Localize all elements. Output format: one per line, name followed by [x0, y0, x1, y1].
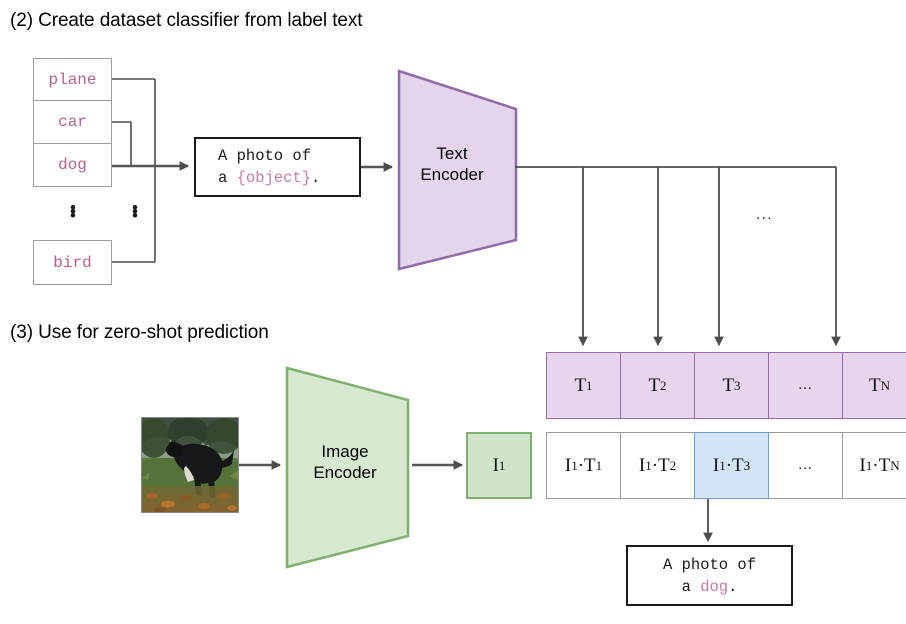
text-embedding-cell-ellipsis: ... — [768, 352, 843, 419]
cell-symbol: T — [722, 375, 734, 397]
connector-ellipsis: ••• — [125, 206, 145, 218]
prediction-line-1: A photo of — [663, 554, 756, 576]
similarity-row: I1·T1 I1·T2 I1·T3 ... I1·TN — [546, 432, 906, 499]
text-embedding-cell-2[interactable]: T2 — [620, 352, 695, 419]
similarity-cell-3-selected[interactable]: I1·T3 — [694, 432, 769, 499]
similarity-cell-ellipsis: ... — [768, 432, 843, 499]
image-encoder-shape[interactable] — [284, 364, 412, 572]
label-box-plane[interactable]: plane — [33, 58, 112, 101]
section-heading-step3: (3) Use for zero-shot prediction — [10, 322, 269, 344]
text-embedding-arrows — [583, 167, 836, 345]
similarity-cell-2[interactable]: I1·T2 — [620, 432, 695, 499]
sim-right: T — [879, 455, 891, 477]
cell-symbol: T — [574, 375, 586, 397]
label-box-dog[interactable]: dog — [33, 144, 112, 187]
label-text: dog — [58, 156, 87, 174]
sim-right: T — [584, 455, 596, 477]
similarity-cell-1[interactable]: I1·T1 — [546, 432, 621, 499]
sim-right: T — [732, 455, 744, 477]
cell-subscript: 2 — [660, 378, 667, 394]
sim-right: T — [658, 455, 670, 477]
text-embedding-cell-3[interactable]: T3 — [694, 352, 769, 419]
label-text: car — [58, 113, 87, 131]
cell-subscript: 3 — [734, 378, 741, 394]
cell-symbol: T — [869, 375, 881, 397]
prediction-line-2-prefix: a — [682, 578, 701, 596]
sim-right-sub: N — [890, 458, 899, 474]
label-text: bird — [53, 254, 91, 272]
prompt-template-box[interactable]: A photo of a {object}. — [194, 137, 361, 197]
prediction-line-2-suffix: . — [728, 578, 737, 596]
text-embedding-cell-1[interactable]: T1 — [546, 352, 621, 419]
cell-symbol: T — [648, 375, 660, 397]
label-box-bird[interactable]: bird — [33, 240, 112, 285]
prompt-line-2-prefix: a — [218, 169, 237, 187]
similarity-cell-n[interactable]: I1·TN — [842, 432, 906, 499]
prompt-line-2-suffix: . — [311, 169, 320, 187]
dog-photo — [142, 418, 238, 512]
sim-right-sub: 2 — [670, 458, 677, 474]
section-heading-step2: (2) Create dataset classifier from label… — [10, 10, 362, 32]
prompt-line-1: A photo of — [196, 145, 359, 167]
sim-right-sub: 3 — [744, 458, 751, 474]
cell-subscript: 1 — [586, 378, 593, 394]
prompt-line-2: a {object}. — [196, 167, 359, 189]
label-to-prompt-connectors — [112, 79, 155, 262]
text-embedding-cell-n[interactable]: TN — [842, 352, 906, 419]
prediction-line-2: a dog. — [682, 576, 738, 598]
prediction-dog-token: dog — [700, 578, 728, 596]
image-embedding-subscript: 1 — [499, 458, 506, 474]
text-embedding-bus-ellipsis: ... — [756, 206, 773, 223]
prompt-object-token: {object} — [237, 169, 311, 187]
prediction-output-box[interactable]: A photo of a dog. — [626, 545, 793, 606]
label-text: plane — [48, 71, 96, 89]
text-encoder-shape[interactable] — [396, 66, 520, 274]
label-box-car[interactable]: car — [33, 101, 112, 144]
image-embedding-box[interactable]: I1 — [466, 432, 532, 499]
input-image-thumbnail[interactable] — [141, 417, 239, 513]
cell-ellipsis: ... — [798, 377, 812, 394]
cell-subscript: N — [881, 378, 890, 394]
sim-right-sub: 1 — [596, 458, 603, 474]
cell-ellipsis: ... — [798, 457, 812, 474]
label-list-ellipsis: ••• — [63, 206, 83, 218]
text-embedding-row: T1 T2 T3 ... TN — [546, 352, 906, 419]
